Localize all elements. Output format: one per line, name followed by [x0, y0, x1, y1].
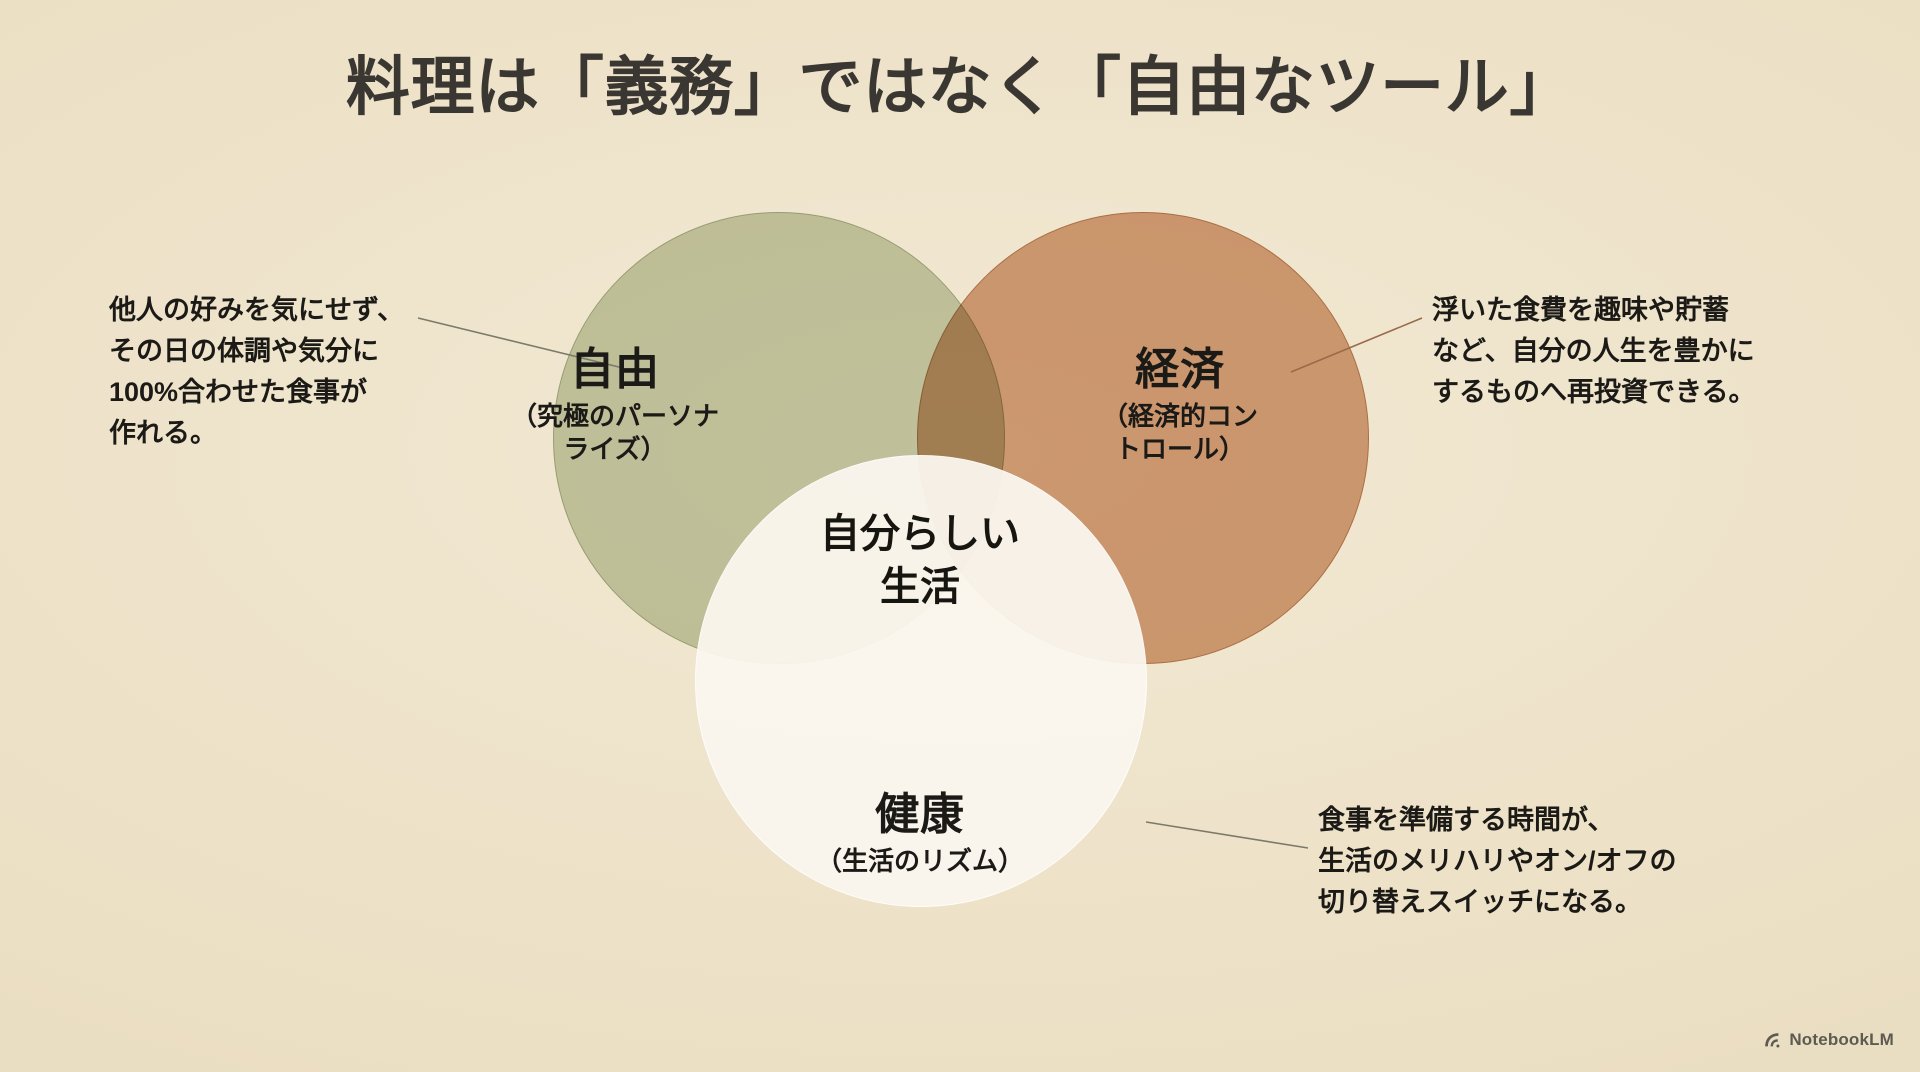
- venn-center-label-line2: 生活: [740, 561, 1100, 614]
- venn-center-label: 自分らしい 生活: [740, 508, 1100, 614]
- annotation-freedom: 他人の好みを気にせず、 その日の体調や気分に 100%合わせた食事が 作れる。: [109, 290, 509, 454]
- notebooklm-watermark-label: NotebookLM: [1789, 1030, 1894, 1050]
- notebooklm-spiral-icon: [1762, 1031, 1782, 1049]
- venn-label-economy: 経済 （経済的コン トロール）: [1035, 345, 1325, 467]
- infographic-canvas: 料理は「義務」ではなく「自由なツール」 自由 （究極のパーソナ ライズ） 経済 …: [0, 0, 1920, 1072]
- venn-label-freedom-subtitle: （究極のパーソナ ライズ）: [470, 400, 760, 468]
- venn-label-economy-title: 経済: [1035, 345, 1325, 396]
- venn-label-health-subtitle: （生活のリズム）: [775, 845, 1065, 879]
- venn-center-label-line1: 自分らしい: [740, 508, 1100, 561]
- leader-line-health: [1146, 822, 1308, 848]
- venn-label-freedom: 自由 （究極のパーソナ ライズ）: [470, 345, 760, 467]
- notebooklm-watermark: NotebookLM: [1762, 1030, 1894, 1050]
- venn-label-health: 健康 （生活のリズム）: [775, 790, 1065, 878]
- annotation-economy: 浮いた食費を趣味や貯蓄 など、自分の人生を豊かに するものへ再投資できる。: [1432, 290, 1852, 413]
- venn-label-freedom-title: 自由: [470, 345, 760, 396]
- venn-label-health-title: 健康: [775, 790, 1065, 841]
- annotation-health: 食事を準備する時間が、 生活のメリハリやオン/オフの 切り替えスイッチになる。: [1318, 800, 1788, 923]
- venn-label-economy-subtitle: （経済的コン トロール）: [1035, 400, 1325, 468]
